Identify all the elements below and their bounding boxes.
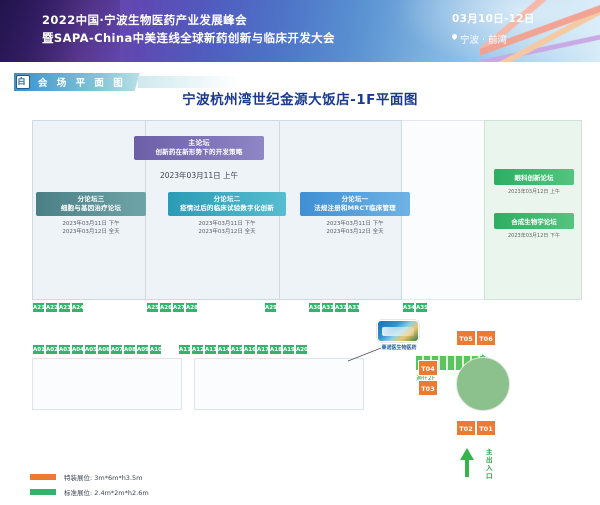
booth-group-t-bottom: T02T01 [456,420,496,436]
sub-forum-1-dates: 2023年03月11日 下午 2023年03月12日 全天 [300,220,410,236]
sub-forum-3-date1: 2023年03月11日 下午 [36,220,146,228]
sponsor-logo[interactable]: 栗诺医生物医药 [377,320,421,351]
banner-title-line1: 2022中国·宁波生物医药产业发展峰会 [42,12,335,28]
booth-a09[interactable]: A09 [136,344,149,355]
sub-forum-2-name: 分论坛二 [172,195,282,204]
floorplan-page: 2022中国·宁波生物医药产业发展峰会 暨SAPA-China中美连线全球新药创… [0,0,600,505]
booth-a22[interactable]: A22 [45,302,58,313]
legend-label-premium: 特装展位: 3m*6m*h3.5m [64,472,142,482]
main-forum-bar: 主论坛 创新药在新形势下的开发策略 [134,136,264,160]
banner-title-line2: 暨SAPA-China中美连线全球新药创新与临床开发大会 [42,30,335,46]
booth-t06[interactable]: T06 [476,330,496,346]
booth-group-a34: A34A35 [402,302,428,313]
booth-group-a01: A01A02A03A04A05A06A07A08A09A10 [32,344,162,355]
booth-a30[interactable]: A30 [308,302,321,313]
main-forum-subtitle: 创新药在新形势下的开发策略 [138,148,260,157]
sub-forum-3-block[interactable]: 分论坛三 细胞与基因治疗论坛 2023年03月11日 下午 2023年03月12… [36,192,146,236]
booth-a13[interactable]: A13 [204,344,217,355]
booth-a32[interactable]: A32 [334,302,347,313]
booth-a17[interactable]: A17 [256,344,269,355]
sub-forum-3-subtitle: 细胞与基因治疗论坛 [40,204,142,213]
booth-group-t-left: T04T03 [418,360,438,400]
booth-a16[interactable]: A16 [243,344,256,355]
booth-a28[interactable]: A28 [185,302,198,313]
booth-a21[interactable]: A21 [32,302,45,313]
main-forum-name: 主论坛 [138,139,260,148]
green-forum-1-date: 2023年03月12日 下午 [494,232,574,239]
booth-a02[interactable]: A02 [45,344,58,355]
event-date: 03月10日-12日 [452,11,535,26]
legend-swatch-premium [30,474,56,480]
booth-a29[interactable]: A29 [264,302,277,313]
booth-group-a29: A29 [264,302,277,313]
green-forum-0-date: 2023年03月12日 上午 [494,188,574,195]
corridor-area [402,120,484,300]
entrance-label: 主出入口 [486,448,494,480]
event-location-label: 宁波 · 前湾 [460,35,507,46]
booth-a05[interactable]: A05 [84,344,97,355]
booth-a34[interactable]: A34 [402,302,415,313]
booth-a15[interactable]: A15 [230,344,243,355]
sub-forum-3-bar: 分论坛三 细胞与基因治疗论坛 [36,192,146,216]
booth-a20[interactable]: A20 [295,344,308,355]
sub-forum-1-date2: 2023年03月12日 全天 [300,228,410,236]
sub-forum-2-bar: 分论坛二 疫情过后的临床试验数字化创新 [168,192,286,216]
tab-tail-decoration [138,76,238,88]
legend-swatch-standard [30,489,56,495]
booth-group-a11: A11A12A13A14A15A16A17A18A19A20 [178,344,308,355]
legend-row-1: 标准展位: 2.4m*2m*h2.6m [30,487,149,497]
legend-row-0: 特装展位: 3m*6m*h3.5m [30,472,149,482]
sub-forum-3-date2: 2023年03月12日 全天 [36,228,146,236]
green-forum-0[interactable]: 眼科创新论坛 2023年03月12日 上午 [494,169,574,195]
entrance-arrow-stem [465,459,469,477]
sub-forum-2-date2: 2023年03月12日 全天 [168,228,286,236]
location-pin-icon [451,33,458,40]
booth-a10[interactable]: A10 [149,344,162,355]
sub-forum-2-block[interactable]: 分论坛二 疫情过后的临床试验数字化创新 2023年03月11日 下午 2023年… [168,192,286,236]
entrance-arrow-icon [460,448,474,460]
booth-a26[interactable]: A26 [159,302,172,313]
hall-lower-right-area [194,358,364,410]
booth-a27[interactable]: A27 [172,302,185,313]
legend-label-standard: 标准展位: 2.4m*2m*h2.6m [64,487,149,497]
booth-a06[interactable]: A06 [97,344,110,355]
sub-forum-2-subtitle: 疫情过后的临床试验数字化创新 [172,204,282,213]
booth-a04[interactable]: A04 [71,344,84,355]
booth-a07[interactable]: A07 [110,344,123,355]
booth-a08[interactable]: A08 [123,344,136,355]
booth-a12[interactable]: A12 [191,344,204,355]
booth-a11[interactable]: A11 [178,344,191,355]
booth-group-a25: A25A26A27A28 [146,302,198,313]
sub-forum-3-name: 分论坛三 [40,195,142,204]
green-forum-1-name: 合成生物学论坛 [494,213,574,229]
sub-forum-1-date1: 2023年03月11日 下午 [300,220,410,228]
booth-a18[interactable]: A18 [269,344,282,355]
booth-t02[interactable]: T02 [456,420,476,436]
booth-a31[interactable]: A31 [321,302,334,313]
sub-forum-2-dates: 2023年03月11日 下午 2023年03月12日 全天 [168,220,286,236]
floorplan-icon: 白 [16,75,30,89]
main-forum-date: 2023年03月11日 上午 [134,170,264,181]
booth-group-t-top: T05T06 [456,330,496,346]
hall-right-area: 眼科创新论坛 2023年03月12日 上午 合成生物学论坛 2023年03月12… [484,120,582,300]
event-location: 宁波 · 前湾 [452,32,535,46]
page-title: 宁波杭州湾世纪金源大饭店-1F平面图 [0,88,600,108]
booth-a25[interactable]: A25 [146,302,159,313]
booth-t03[interactable]: T03 [418,380,438,396]
sub-forum-2-date1: 2023年03月11日 下午 [168,220,286,228]
banner-title: 2022中国·宁波生物医药产业发展峰会 暨SAPA-China中美连线全球新药创… [42,12,335,46]
booth-t04[interactable]: T04 [418,360,438,376]
booth-a14[interactable]: A14 [217,344,230,355]
booth-a35[interactable]: A35 [415,302,428,313]
tab-floorplan-label: 会 场 平 面 图 [38,75,126,89]
main-entrance[interactable]: 主出入口 [460,448,494,480]
booth-group-a21: A21A22A23A24 [32,302,84,313]
banner-meta: 03月10日-12日 宁波 · 前湾 [452,11,535,46]
booth-a03[interactable]: A03 [58,344,71,355]
sub-forum-1-subtitle: 法规注册和MRCT临床管理 [304,204,406,213]
sponsor-logo-icon [377,320,419,342]
main-forum-block[interactable]: 主论坛 创新药在新形势下的开发策略 2023年03月11日 上午 [134,136,264,181]
hall-lower-left-area [32,358,182,410]
sub-forum-1-block[interactable]: 分论坛一 法规注册和MRCT临床管理 2023年03月11日 下午 2023年0… [300,192,410,236]
booth-a23[interactable]: A23 [58,302,71,313]
green-forum-1[interactable]: 合成生物学论坛 2023年03月12日 下午 [494,213,574,239]
booth-group-a30: A30A31A32A33 [308,302,360,313]
booth-a33[interactable]: A33 [347,302,360,313]
green-forum-0-name: 眼科创新论坛 [494,169,574,185]
center-stage-circle [456,357,510,411]
sub-forum-3-dates: 2023年03月11日 下午 2023年03月12日 全天 [36,220,146,236]
booth-a19[interactable]: A19 [282,344,295,355]
floorplan-canvas: 眼科创新论坛 2023年03月12日 上午 合成生物学论坛 2023年03月12… [18,112,582,457]
sub-forum-1-bar: 分论坛一 法规注册和MRCT临床管理 [300,192,410,216]
legend: 特装展位: 3m*6m*h3.5m 标准展位: 2.4m*2m*h2.6m [30,472,149,502]
booth-a24[interactable]: A24 [71,302,84,313]
booth-a01[interactable]: A01 [32,344,45,355]
booth-t05[interactable]: T05 [456,330,476,346]
event-banner: 2022中国·宁波生物医药产业发展峰会 暨SAPA-China中美连线全球新药创… [0,0,600,62]
booth-t01[interactable]: T01 [476,420,496,436]
sub-forum-1-name: 分论坛一 [304,195,406,204]
sponsor-logo-caption: 栗诺医生物医药 [377,344,421,351]
